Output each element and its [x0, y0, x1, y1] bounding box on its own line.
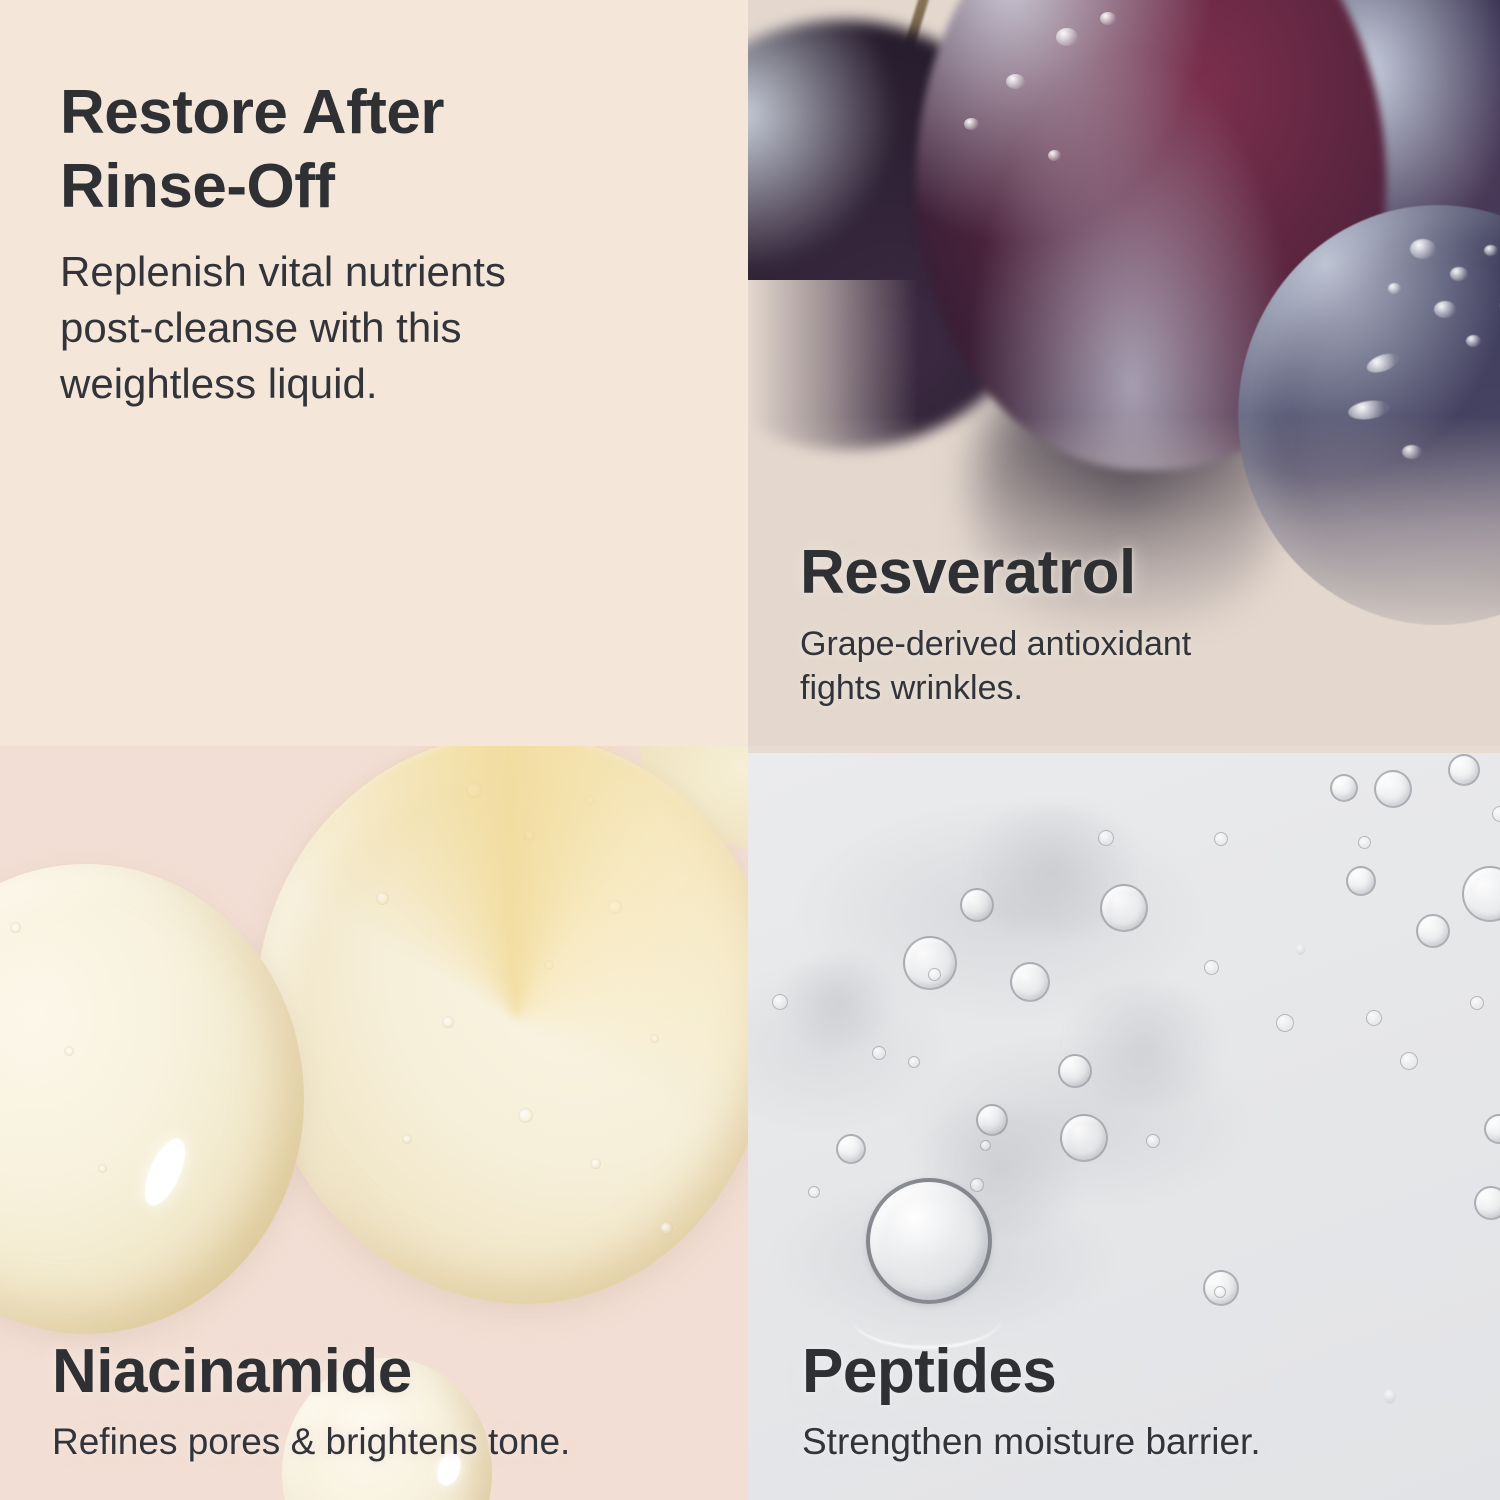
gel-bubble	[903, 936, 957, 990]
intro-body-line2: post-cleanse with this	[60, 304, 462, 351]
resveratrol-title: Resveratrol	[800, 538, 1360, 608]
peptides-body: Strengthen moisture barrier.	[802, 1418, 1442, 1466]
gel-bubble-small	[1214, 832, 1228, 846]
gel-bubble	[1474, 1186, 1500, 1220]
niacinamide-body: Refines pores & brightens tone.	[52, 1418, 692, 1466]
intro-body-line3: weightless liquid.	[60, 360, 378, 407]
gel-bubble-small	[772, 994, 788, 1010]
gel-smudge-d	[768, 956, 908, 1046]
gel-bubble	[836, 1134, 866, 1164]
resveratrol-body-line2: fights wrinkles.	[800, 669, 1023, 707]
resveratrol-textblock: Resveratrol Grape-derived antioxidantfig…	[800, 538, 1360, 710]
intro-headline-line1: Restore After	[60, 78, 444, 147]
niacinamide-textblock: Niacinamide Refines pores & brightens to…	[52, 1336, 692, 1466]
gel-bubble-small	[1214, 1286, 1226, 1298]
intro-body-line1: Replenish vital nutrients	[60, 248, 506, 295]
gel-bubble-small	[1204, 960, 1219, 975]
peptides-top-strip	[748, 746, 1500, 753]
gel-bubble-small	[980, 1140, 991, 1151]
gel-bubble	[1010, 962, 1050, 1002]
gel-bubble	[1330, 774, 1358, 802]
peptides-title: Peptides	[802, 1336, 1442, 1408]
ingredient-benefits-infographic: Restore AfterRinse-Off Replenish vital n…	[0, 0, 1500, 1500]
intro-headline-line2: Rinse-Off	[60, 152, 335, 221]
niacinamide-title: Niacinamide	[52, 1336, 692, 1408]
gel-bubble-small	[808, 1186, 820, 1198]
panel-peptides: Peptides Strengthen moisture barrier.	[748, 746, 1500, 1500]
gel-bubble	[1060, 1114, 1108, 1162]
oil-droplet-large-rim	[256, 746, 748, 1304]
gel-smudge-b	[1048, 986, 1238, 1106]
gel-bubble-small	[1276, 1014, 1294, 1032]
intro-headline: Restore AfterRinse-Off	[60, 76, 660, 224]
panel-intro: Restore AfterRinse-Off Replenish vital n…	[0, 0, 748, 746]
gel-tiny-drop	[1296, 944, 1305, 955]
intro-body: Replenish vital nutrientspost-cleanse wi…	[60, 244, 660, 412]
panel-resveratrol: Resveratrol Grape-derived antioxidantfig…	[748, 0, 1500, 746]
peptides-textblock: Peptides Strengthen moisture barrier.	[802, 1336, 1442, 1466]
gel-bubble-small	[1146, 1134, 1160, 1148]
intro-textblock: Restore AfterRinse-Off Replenish vital n…	[60, 76, 660, 412]
gel-bubble-small	[1366, 1010, 1382, 1026]
gel-bubble	[1374, 770, 1412, 808]
gel-bubble-small	[1358, 836, 1371, 849]
gel-bubble	[1448, 754, 1480, 786]
gel-bubble	[1058, 1054, 1092, 1088]
gel-bubble-small	[908, 1056, 920, 1068]
resveratrol-body: Grape-derived antioxidantfights wrinkles…	[800, 622, 1360, 710]
gel-bubble	[1346, 866, 1376, 896]
gel-bubble-small	[970, 1178, 984, 1192]
gel-bubble	[1416, 914, 1450, 948]
gel-bubble	[1100, 884, 1148, 932]
gel-bubble-small	[872, 1046, 886, 1060]
gel-bubble-small	[1470, 996, 1484, 1010]
gel-bubble	[960, 888, 994, 922]
gel-bubble	[976, 1104, 1008, 1136]
resveratrol-body-line1: Grape-derived antioxidant	[800, 625, 1191, 663]
oil-droplet-left	[0, 864, 304, 1334]
gel-bubble-small	[1400, 1052, 1418, 1070]
gel-bubble-small	[1098, 830, 1114, 846]
gel-bubble-small	[928, 968, 941, 981]
panel-niacinamide: Niacinamide Refines pores & brightens to…	[0, 746, 748, 1500]
